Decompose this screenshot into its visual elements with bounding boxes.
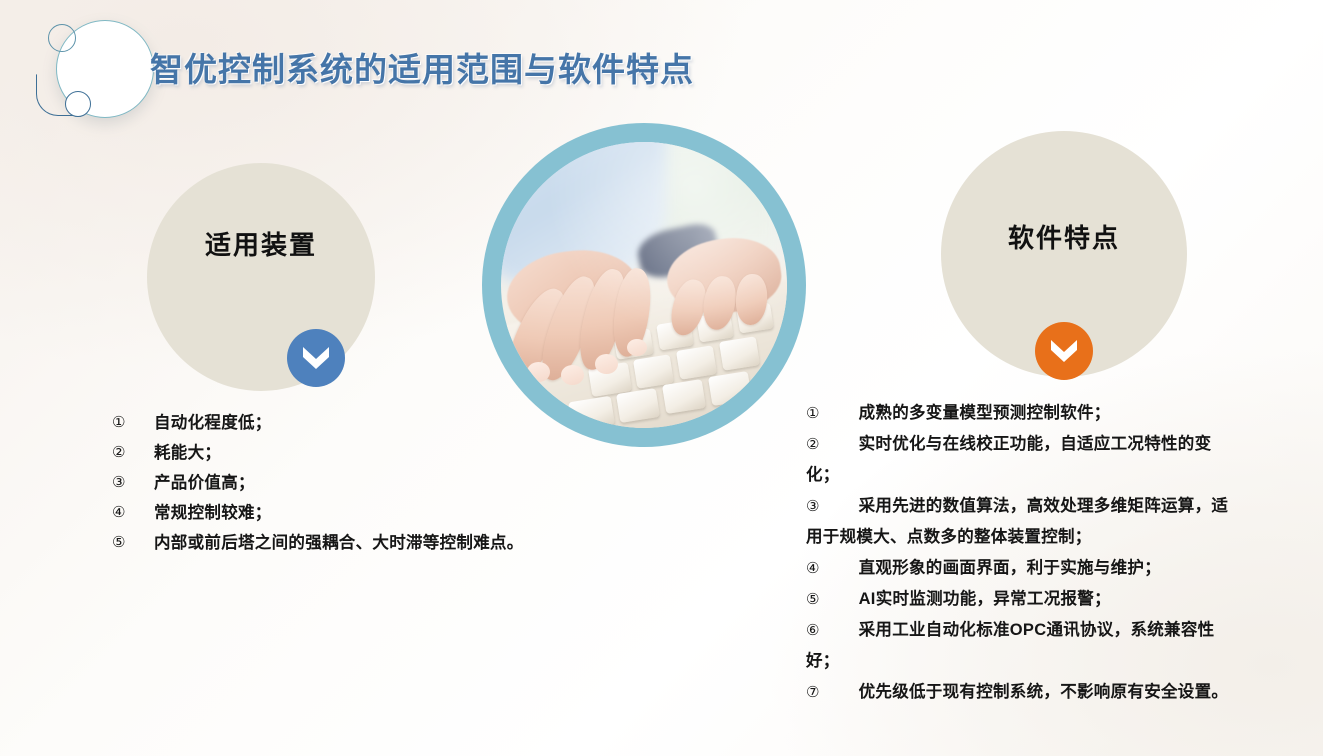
topic-label-right: 软件特点 — [1008, 218, 1120, 255]
chevron-down-icon — [300, 343, 332, 373]
center-photo — [501, 142, 787, 428]
list-item-number: ⑥ — [806, 615, 854, 646]
list-item-text: 实时优化与在线校正功能，自适应工况特性的变化； — [806, 435, 1211, 484]
list-item-text: 产品价值高； — [154, 468, 612, 498]
list-item: ③ 采用先进的数值算法，高效处理多维矩阵运算，适用于规模大、点数多的整体装置控制… — [806, 491, 1236, 553]
list-item: ① 自动化程度低； — [112, 408, 612, 438]
list-item-number: ④ — [806, 553, 854, 584]
list-item: ① 成熟的多变量模型预测控制软件； — [806, 398, 1236, 429]
list-item-number: ② — [806, 429, 854, 460]
list-item-number: ② — [112, 438, 154, 468]
chevron-down-icon — [1048, 336, 1080, 366]
list-item: ④ 常规控制较难； — [112, 498, 612, 528]
list-item: ⑤ AI实时监测功能，异常工况报警； — [806, 584, 1236, 615]
bullet-list-left: ① 自动化程度低； ② 耗能大； ③ 产品价值高； ④ 常规控制较难； ⑤ 内部… — [112, 408, 612, 558]
header-decoration — [34, 8, 164, 132]
list-item: ② 耗能大； — [112, 438, 612, 468]
list-item-text: 优先级低于现有控制系统，不影响原有安全设置。 — [859, 683, 1229, 701]
list-item-text: 自动化程度低； — [154, 408, 612, 438]
topic-label-left: 适用装置 — [205, 225, 317, 262]
bullet-list-right: ① 成熟的多变量模型预测控制软件； ② 实时优化与在线校正功能，自适应工况特性的… — [806, 398, 1236, 708]
list-item: ⑤ 内部或前后塔之间的强耦合、大时滞等控制难点。 — [112, 528, 612, 558]
list-item-number: ① — [806, 398, 854, 429]
list-item-text: 采用先进的数值算法，高效处理多维矩阵运算，适用于规模大、点数多的整体装置控制； — [806, 497, 1228, 546]
list-item-number: ④ — [112, 498, 154, 528]
slide: 智优控制系统的适用范围与软件特点 适用装置 — [0, 0, 1323, 756]
list-item-text: 采用工业自动化标准OPC通讯协议，系统兼容性好； — [806, 621, 1214, 670]
list-item-text: AI实时监测功能，异常工况报警； — [859, 590, 1111, 608]
list-item-number: ③ — [806, 491, 854, 522]
list-item: ② 实时优化与在线校正功能，自适应工况特性的变化； — [806, 429, 1236, 491]
list-item-text: 成熟的多变量模型预测控制软件； — [859, 404, 1111, 422]
list-item-number: ⑤ — [806, 584, 854, 615]
list-item-text: 直观形象的画面界面，利于实施与维护； — [859, 559, 1161, 577]
list-item: ④ 直观形象的画面界面，利于实施与维护； — [806, 553, 1236, 584]
list-item-number: ⑦ — [806, 677, 854, 708]
chevron-down-badge-left[interactable] — [287, 329, 345, 387]
list-item: ⑦ 优先级低于现有控制系统，不影响原有安全设置。 — [806, 677, 1236, 708]
list-item-text: 常规控制较难； — [154, 498, 612, 528]
center-photo-ring — [482, 123, 806, 447]
decorative-small-circle-bottom-icon — [65, 91, 91, 117]
page-title: 智优控制系统的适用范围与软件特点 — [150, 43, 694, 91]
decorative-small-circle-top-icon — [48, 24, 76, 52]
list-item-text: 内部或前后塔之间的强耦合、大时滞等控制难点。 — [154, 528, 612, 558]
list-item-text: 耗能大； — [154, 438, 612, 468]
chevron-down-badge-right[interactable] — [1035, 322, 1093, 380]
list-item: ⑥ 采用工业自动化标准OPC通讯协议，系统兼容性好； — [806, 615, 1236, 677]
list-item-number: ① — [112, 408, 154, 438]
list-item: ③ 产品价值高； — [112, 468, 612, 498]
list-item-number: ⑤ — [112, 528, 154, 558]
list-item-number: ③ — [112, 468, 154, 498]
